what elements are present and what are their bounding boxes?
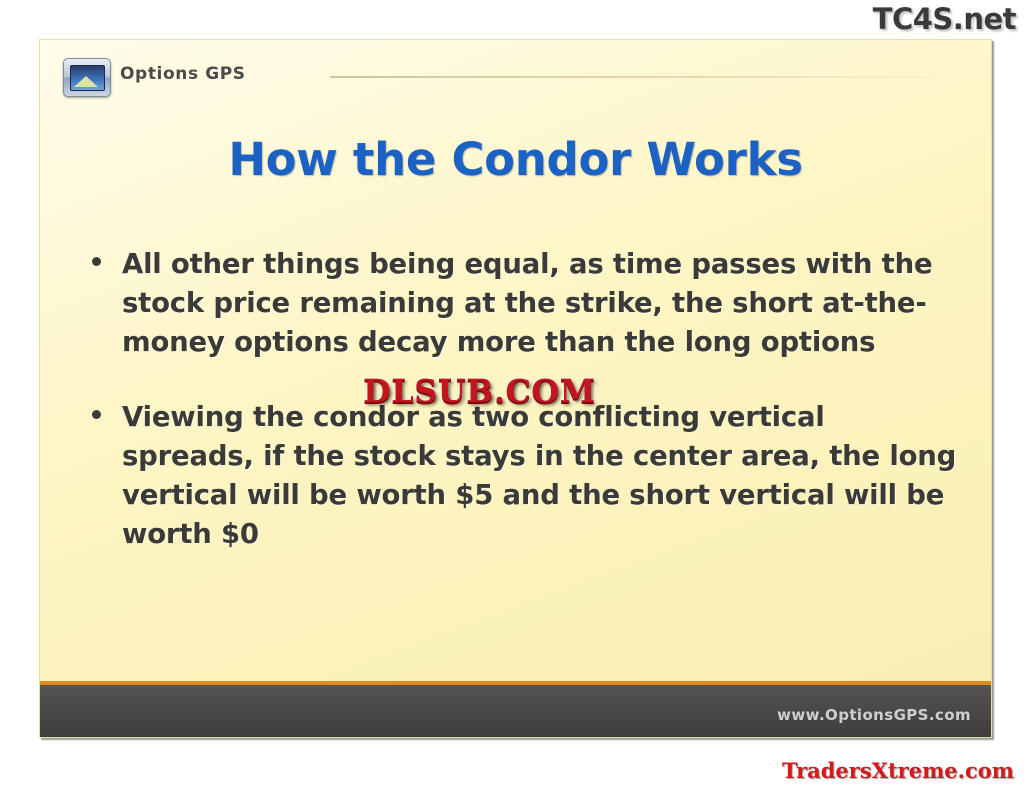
slide-header: Options GPS (40, 40, 991, 102)
bullet-text: Viewing the condor as two conflicting ve… (122, 401, 956, 550)
bullet-text: All other things being equal, as time pa… (122, 248, 932, 358)
tradersxtreme-watermark: TradersXtreme.com (782, 758, 1014, 783)
options-gps-logo-icon (63, 58, 111, 97)
bullet-dot-icon (92, 410, 101, 419)
slide-title: How the Condor Works (40, 133, 991, 186)
footer-site-label: www.OptionsGPS.com (777, 706, 971, 724)
tc4s-brand-watermark: TC4S.net (873, 2, 1016, 36)
bullet-item: Viewing the condor as two conflicting ve… (82, 398, 962, 554)
logo-label: Options GPS (120, 64, 246, 84)
bullet-item: All other things being equal, as time pa… (82, 245, 962, 362)
dlsub-watermark: DLSUB.COM (363, 372, 596, 410)
slide-body: All other things being equal, as time pa… (82, 245, 962, 590)
bullet-dot-icon (92, 257, 101, 266)
slide-footer: www.OptionsGPS.com (40, 681, 991, 737)
presentation-screen-icon (70, 65, 105, 91)
header-divider (330, 76, 971, 78)
